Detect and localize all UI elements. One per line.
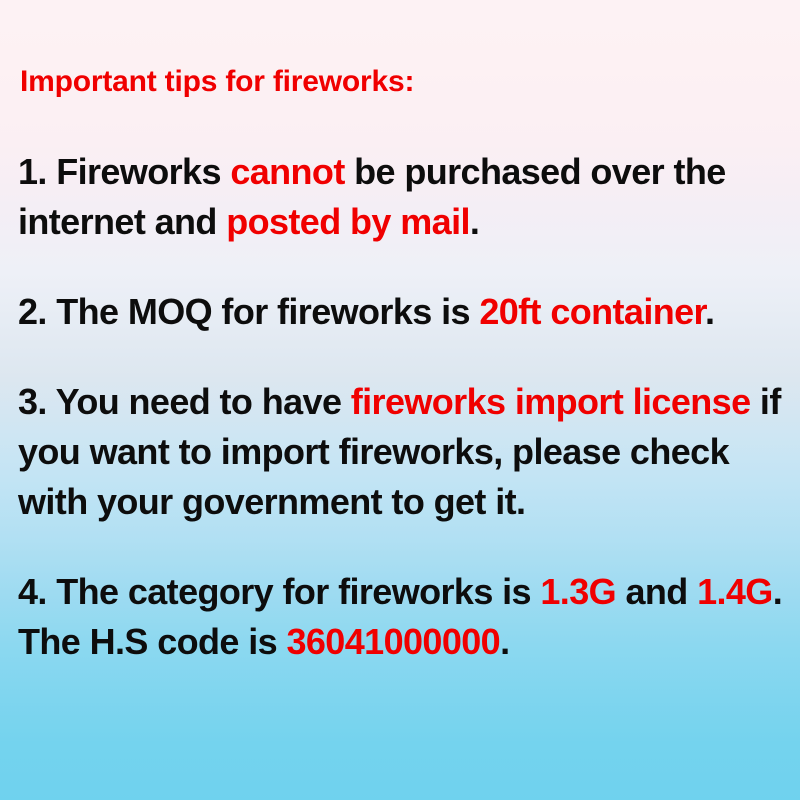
highlighted-term: 1.4G xyxy=(697,571,773,612)
plain-text: Fireworks xyxy=(47,151,230,192)
plain-text: The MOQ for fireworks is xyxy=(47,291,479,332)
tip-3-text: You need to have fireworks import licens… xyxy=(18,381,781,522)
tip-2-text: The MOQ for fireworks is 20ft container. xyxy=(47,291,715,332)
tip-4-number: 4. xyxy=(18,571,47,612)
tip-item-2: 2. The MOQ for fireworks is 20ft contain… xyxy=(18,287,794,337)
highlighted-term: 1.3G xyxy=(540,571,616,612)
highlighted-term: posted by mail xyxy=(226,201,470,242)
highlighted-term: 36041000000 xyxy=(286,621,500,662)
plain-text: . xyxy=(705,291,714,332)
highlighted-term: cannot xyxy=(230,151,344,192)
highlighted-term: fireworks import license xyxy=(351,381,751,422)
plain-text: The category for fireworks is xyxy=(47,571,541,612)
tip-item-3: 3. You need to have fireworks import lic… xyxy=(18,377,794,527)
tip-item-1: 1. Fireworks cannot be purchased over th… xyxy=(18,147,794,247)
plain-text: You need to have xyxy=(47,381,351,422)
notice-text-block: Important tips for fireworks: 1. Firewor… xyxy=(18,60,794,667)
tip-item-4: 4. The category for fireworks is 1.3G an… xyxy=(18,567,794,667)
highlighted-term: 20ft container xyxy=(479,291,705,332)
plain-text: . xyxy=(470,201,479,242)
plain-text: and xyxy=(616,571,697,612)
tip-1-number: 1. xyxy=(18,151,47,192)
tip-4-text: The category for fireworks is 1.3G and 1… xyxy=(18,571,782,662)
tip-2-number: 2. xyxy=(18,291,47,332)
tip-3-number: 3. xyxy=(18,381,47,422)
tip-1-text: Fireworks cannot be purchased over the i… xyxy=(18,151,726,242)
page-title: Important tips for fireworks: xyxy=(20,60,794,104)
fireworks-notice-card: Important tips for fireworks: 1. Firewor… xyxy=(0,0,800,800)
plain-text: . xyxy=(500,621,509,662)
